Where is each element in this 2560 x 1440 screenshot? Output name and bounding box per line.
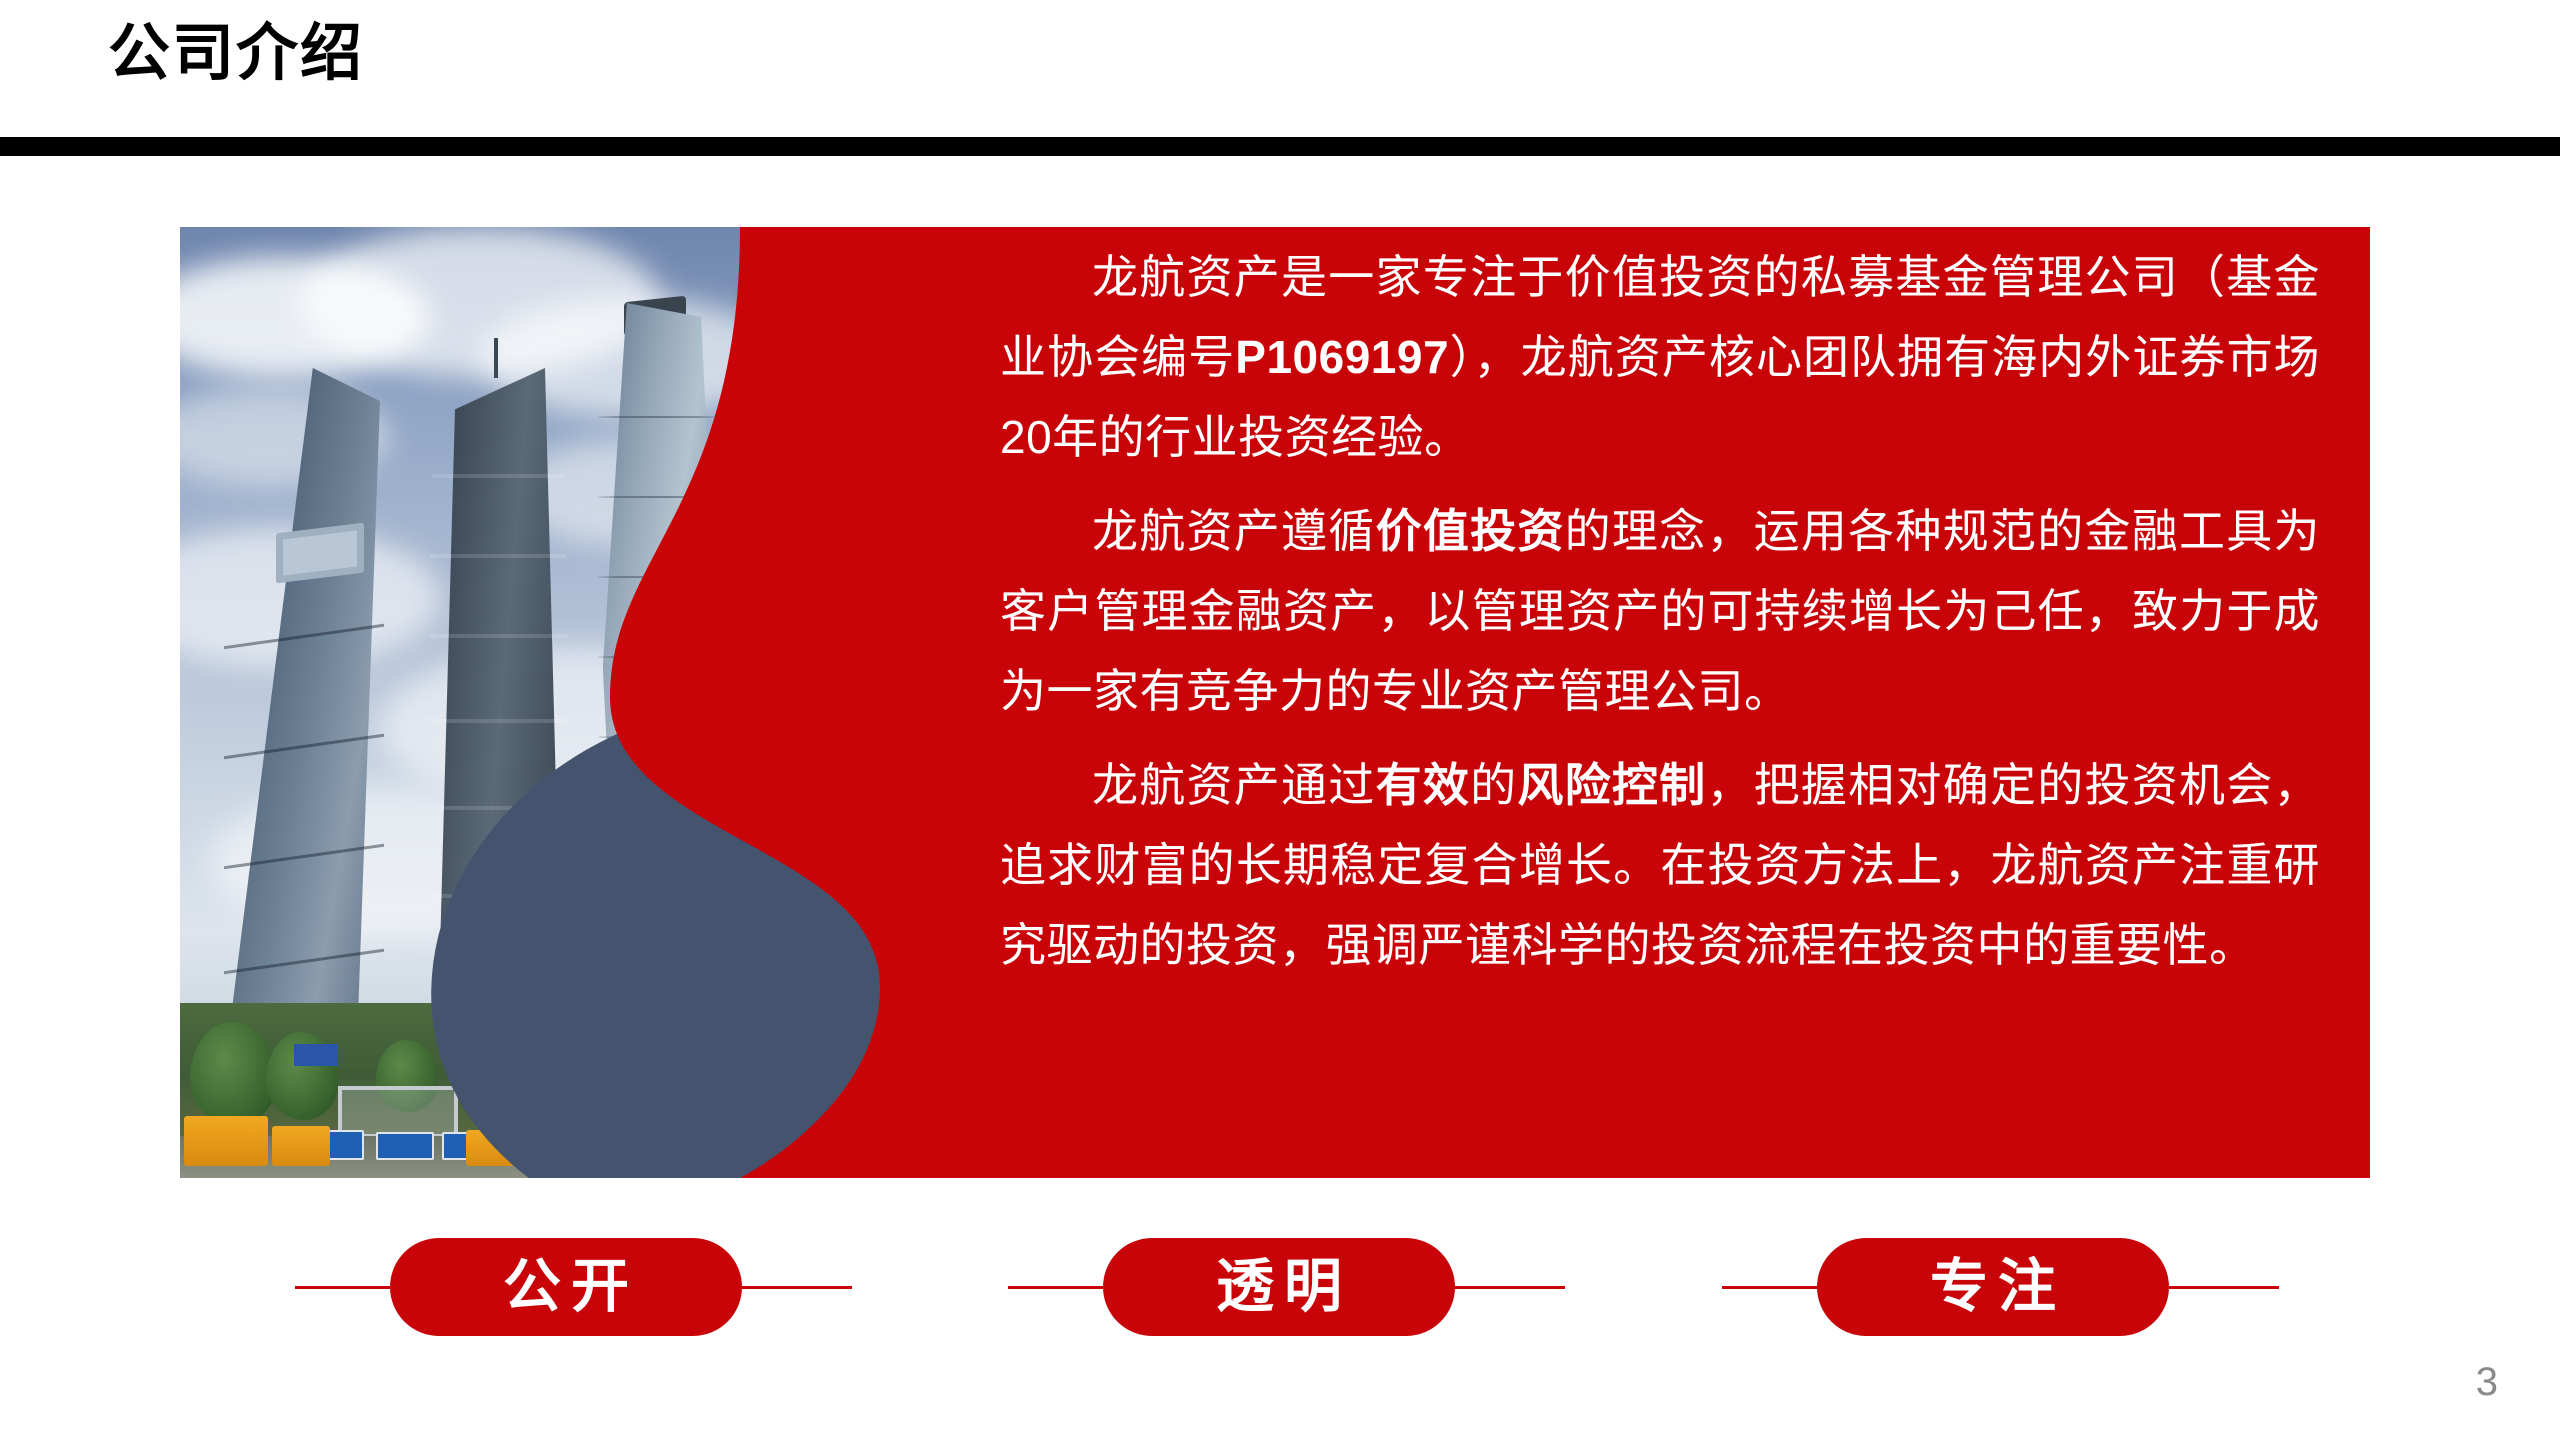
pill-group-transparent: 透明 bbox=[1008, 1222, 1565, 1352]
pill-connector-line-left bbox=[295, 1286, 390, 1289]
emphasis-text: P1069197 bbox=[1235, 331, 1449, 383]
header-divider-rule bbox=[0, 137, 2560, 156]
value-pills-row: 公开 透明 专注 bbox=[0, 1222, 2560, 1352]
pill-group-open: 公开 bbox=[295, 1222, 852, 1352]
company-description-text: 龙航资产是一家专注于价值投资的私募基金管理公司（基金业协会编号P1069197）… bbox=[1000, 237, 2320, 999]
body-text: 的 bbox=[1470, 759, 1517, 811]
pill-connector-line-right bbox=[2169, 1286, 2279, 1289]
pill-connector-line-left bbox=[1722, 1286, 1817, 1289]
slide-header: 公司介绍 bbox=[0, 0, 2560, 160]
para-3: 龙航资产通过有效的风险控制，把握相对确定的投资机会，追求财富的长期稳定复合增长。… bbox=[1000, 745, 2320, 985]
pill-connector-line-left bbox=[1008, 1286, 1103, 1289]
facade-band bbox=[430, 554, 566, 558]
pill-connector-line-right bbox=[1455, 1286, 1565, 1289]
construction-vehicle bbox=[184, 1116, 268, 1166]
emphasis-text: 风险控制 bbox=[1517, 759, 1706, 811]
para-1: 龙航资产是一家专注于价值投资的私募基金管理公司（基金业协会编号P1069197）… bbox=[1000, 237, 2320, 477]
facade-band bbox=[598, 416, 718, 418]
facade-band bbox=[432, 474, 564, 478]
pill-button-transparent[interactable]: 透明 bbox=[1103, 1238, 1455, 1336]
jinmao-spire bbox=[494, 338, 498, 378]
body-text: 龙航资产遵循 bbox=[1092, 505, 1376, 557]
pill-button-open[interactable]: 公开 bbox=[390, 1238, 742, 1336]
content-card: 龙航资产是一家专注于价值投资的私募基金管理公司（基金业协会编号P1069197）… bbox=[180, 227, 2370, 1178]
page-title: 公司介绍 bbox=[108, 20, 364, 88]
street-banner bbox=[294, 1044, 338, 1066]
emphasis-text: 有效 bbox=[1376, 759, 1471, 811]
facade-band bbox=[428, 719, 570, 723]
page-number: 3 bbox=[2476, 1362, 2498, 1402]
emphasis-text: 价值投资 bbox=[1376, 505, 1565, 557]
pill-button-focus[interactable]: 专注 bbox=[1817, 1238, 2169, 1336]
construction-vehicle bbox=[272, 1126, 330, 1166]
body-text: 龙航资产通过 bbox=[1092, 759, 1376, 811]
road-sign bbox=[376, 1132, 434, 1160]
para-2: 龙航资产遵循价值投资的理念，运用各种规范的金融工具为客户管理金融资产，以管理资产… bbox=[1000, 491, 2320, 731]
pill-group-focus: 专注 bbox=[1722, 1222, 2279, 1352]
facade-band bbox=[429, 634, 568, 638]
pill-connector-line-right bbox=[742, 1286, 852, 1289]
